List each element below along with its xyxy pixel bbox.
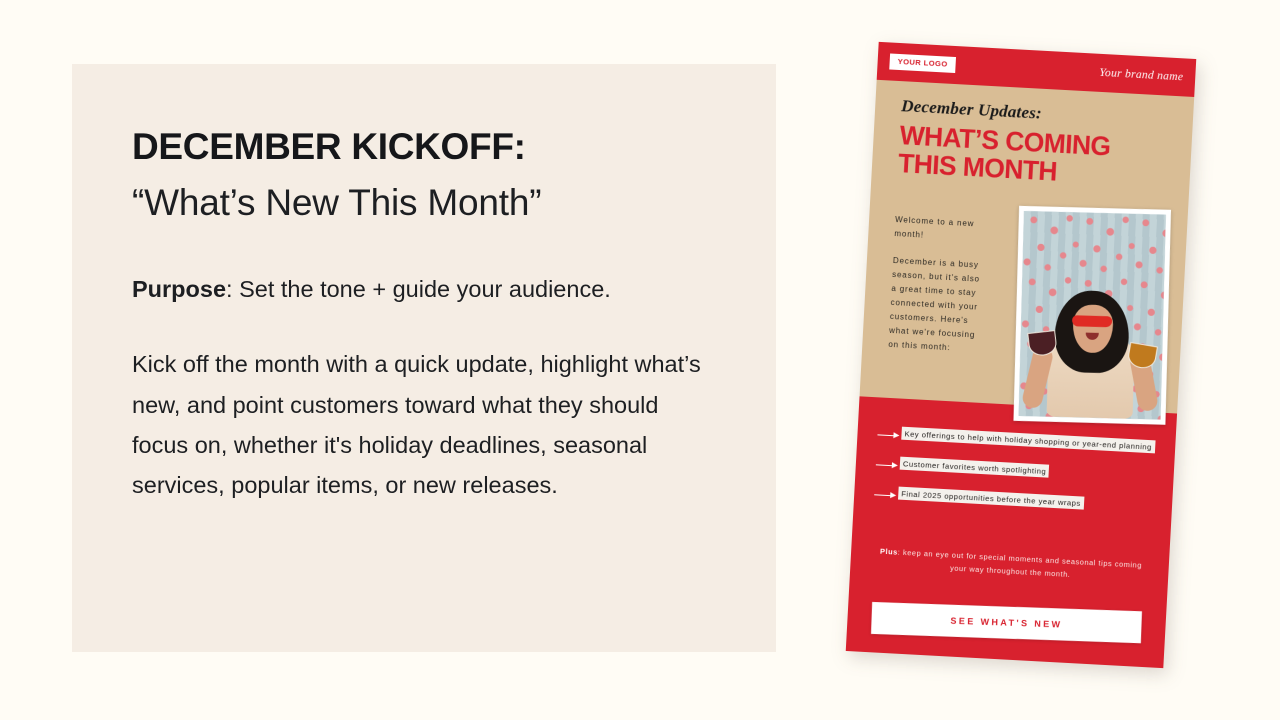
arrow-right-icon [877, 430, 902, 441]
photo-image [1019, 211, 1166, 420]
mockup-red-section: Key offerings to help with holiday shopp… [846, 396, 1177, 668]
cta-label: SEE WHAT'S NEW [950, 616, 1062, 630]
your-logo-badge: YOUR LOGO [889, 54, 956, 73]
brand-name-text: Your brand name [1099, 67, 1183, 84]
purpose-text: : Set the tone + guide your audience. [226, 276, 611, 302]
page-title: DECEMBER KICKOFF: [132, 126, 716, 167]
list-item: Customer favorites worth spotlighting [876, 456, 1160, 485]
mockup-headline: WHAT’S COMING THIS MONTH [897, 121, 1150, 191]
page-subtitle: “What’s New This Month” [132, 181, 716, 225]
mockup-bullet-list: Key offerings to help with holiday shopp… [873, 426, 1161, 531]
plus-label: Plus [880, 547, 898, 557]
intro-greeting: Welcome to a new month! [894, 213, 991, 246]
person-figure [1019, 289, 1164, 420]
plus-text: : keep an eye out for special moments an… [898, 548, 1143, 579]
email-mockup-card: YOUR LOGO Your brand name December Updat… [846, 42, 1197, 668]
purpose-line: Purpose: Set the tone + guide your audie… [132, 273, 652, 306]
mockup-photo [1013, 206, 1171, 425]
mockup-intro-text: Welcome to a new month! December is a bu… [888, 213, 991, 357]
intro-paragraph: December is a busy season, but it's also… [888, 254, 989, 357]
purpose-label: Purpose [132, 276, 226, 302]
list-item: Key offerings to help with holiday shopp… [877, 426, 1161, 455]
arrow-right-icon [876, 460, 901, 471]
mockup-plus-note: Plus: keep an eye out for special moment… [878, 546, 1143, 586]
arrow-right-icon [874, 490, 899, 501]
bullet-text: Customer favorites worth spotlighting [900, 458, 1050, 479]
red-sunglasses-icon [1072, 315, 1112, 327]
mockup-header-bar: YOUR LOGO Your brand name [877, 42, 1197, 97]
mockup-canvas: YOUR LOGO Your brand name December Updat… [846, 42, 1197, 668]
left-content-panel: DECEMBER KICKOFF: “What’s New This Month… [72, 64, 776, 652]
bullet-text: Key offerings to help with holiday shopp… [901, 428, 1155, 454]
mockup-title-block: December Updates: WHAT’S COMING THIS MON… [897, 96, 1151, 191]
list-item: Final 2025 opportunities before the year… [874, 486, 1158, 515]
bullet-text: Final 2025 opportunities before the year… [898, 488, 1084, 511]
body-copy: Kick off the month with a quick update, … [132, 344, 716, 506]
see-whats-new-button[interactable]: SEE WHAT'S NEW [871, 602, 1142, 643]
